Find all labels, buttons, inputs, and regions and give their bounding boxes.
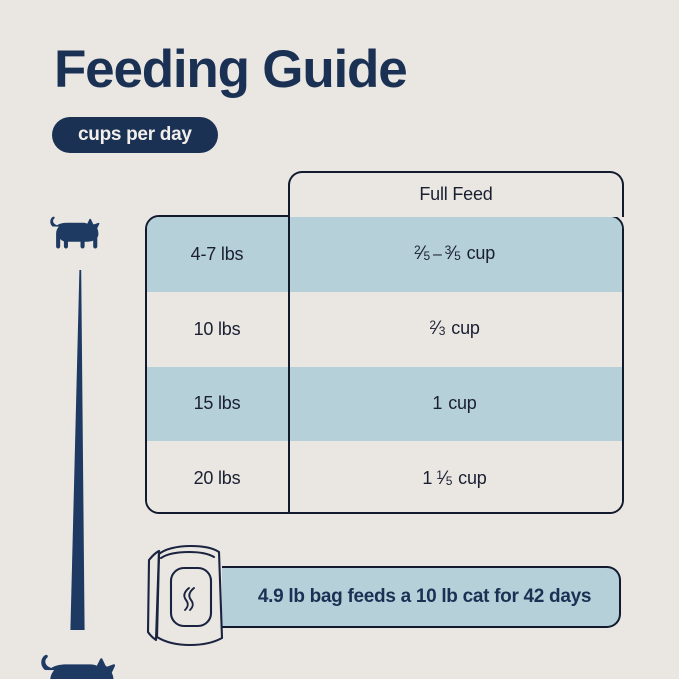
cat-size-scale	[30, 214, 142, 506]
fraction-denominator-2: 5	[454, 249, 460, 263]
cell-amount: 2⁄5–3⁄5cup	[287, 217, 622, 292]
feeding-guide-infographic: Feeding Guide cups per day Full Feed 4-7…	[0, 0, 679, 679]
cat-small-icon	[44, 216, 100, 250]
amount-whole: 1	[432, 393, 442, 413]
column-header-full-feed: Full Feed	[288, 171, 624, 217]
fraction-denominator: 5	[423, 249, 429, 263]
cell-weight: 10 lbs	[147, 292, 287, 367]
page-title: Feeding Guide	[54, 42, 406, 98]
amount-whole: 1	[422, 468, 436, 488]
fraction-value: 2⁄3cup	[429, 318, 479, 340]
amount-unit: cup	[445, 318, 479, 338]
cell-weight: 20 lbs	[147, 441, 287, 514]
fraction-value: 2⁄5–3⁄5cup	[414, 243, 495, 265]
cell-weight: 4-7 lbs	[147, 217, 287, 292]
subtitle-badge-label: cups per day	[78, 124, 192, 146]
cell-weight: 15 lbs	[147, 367, 287, 442]
table-row: 20 lbs 11⁄5cup	[147, 441, 622, 514]
cell-amount: 2⁄3cup	[287, 292, 622, 367]
food-bag-icon	[143, 542, 237, 650]
table-row: 15 lbs 1cup	[147, 367, 622, 442]
bag-yield-callout: 4.9 lb bag feeds a 10 lb cat for 42 days	[222, 566, 621, 628]
size-wedge-icon	[64, 270, 100, 660]
bag-yield-text: 4.9 lb bag feeds a 10 lb cat for 42 days	[250, 586, 591, 608]
fraction-value: 11⁄5cup	[422, 468, 486, 490]
cat-large-icon	[32, 654, 116, 679]
amount-unit: cup	[461, 243, 495, 263]
amount-unit: cup	[452, 468, 486, 488]
cell-amount: 11⁄5cup	[287, 441, 622, 514]
cell-amount: 1cup	[287, 367, 622, 442]
table-column-divider	[288, 217, 291, 514]
fraction-separator: –	[430, 246, 445, 263]
subtitle-badge: cups per day	[52, 117, 218, 153]
feeding-table: 4-7 lbs 2⁄5–3⁄5cup 10 lbs 2⁄3cup 15 lbs …	[145, 215, 624, 514]
table-row: 10 lbs 2⁄3cup	[147, 292, 622, 367]
table-row: 4-7 lbs 2⁄5–3⁄5cup	[147, 217, 622, 292]
whole-value: 1cup	[432, 393, 476, 414]
amount-unit: cup	[442, 393, 476, 413]
